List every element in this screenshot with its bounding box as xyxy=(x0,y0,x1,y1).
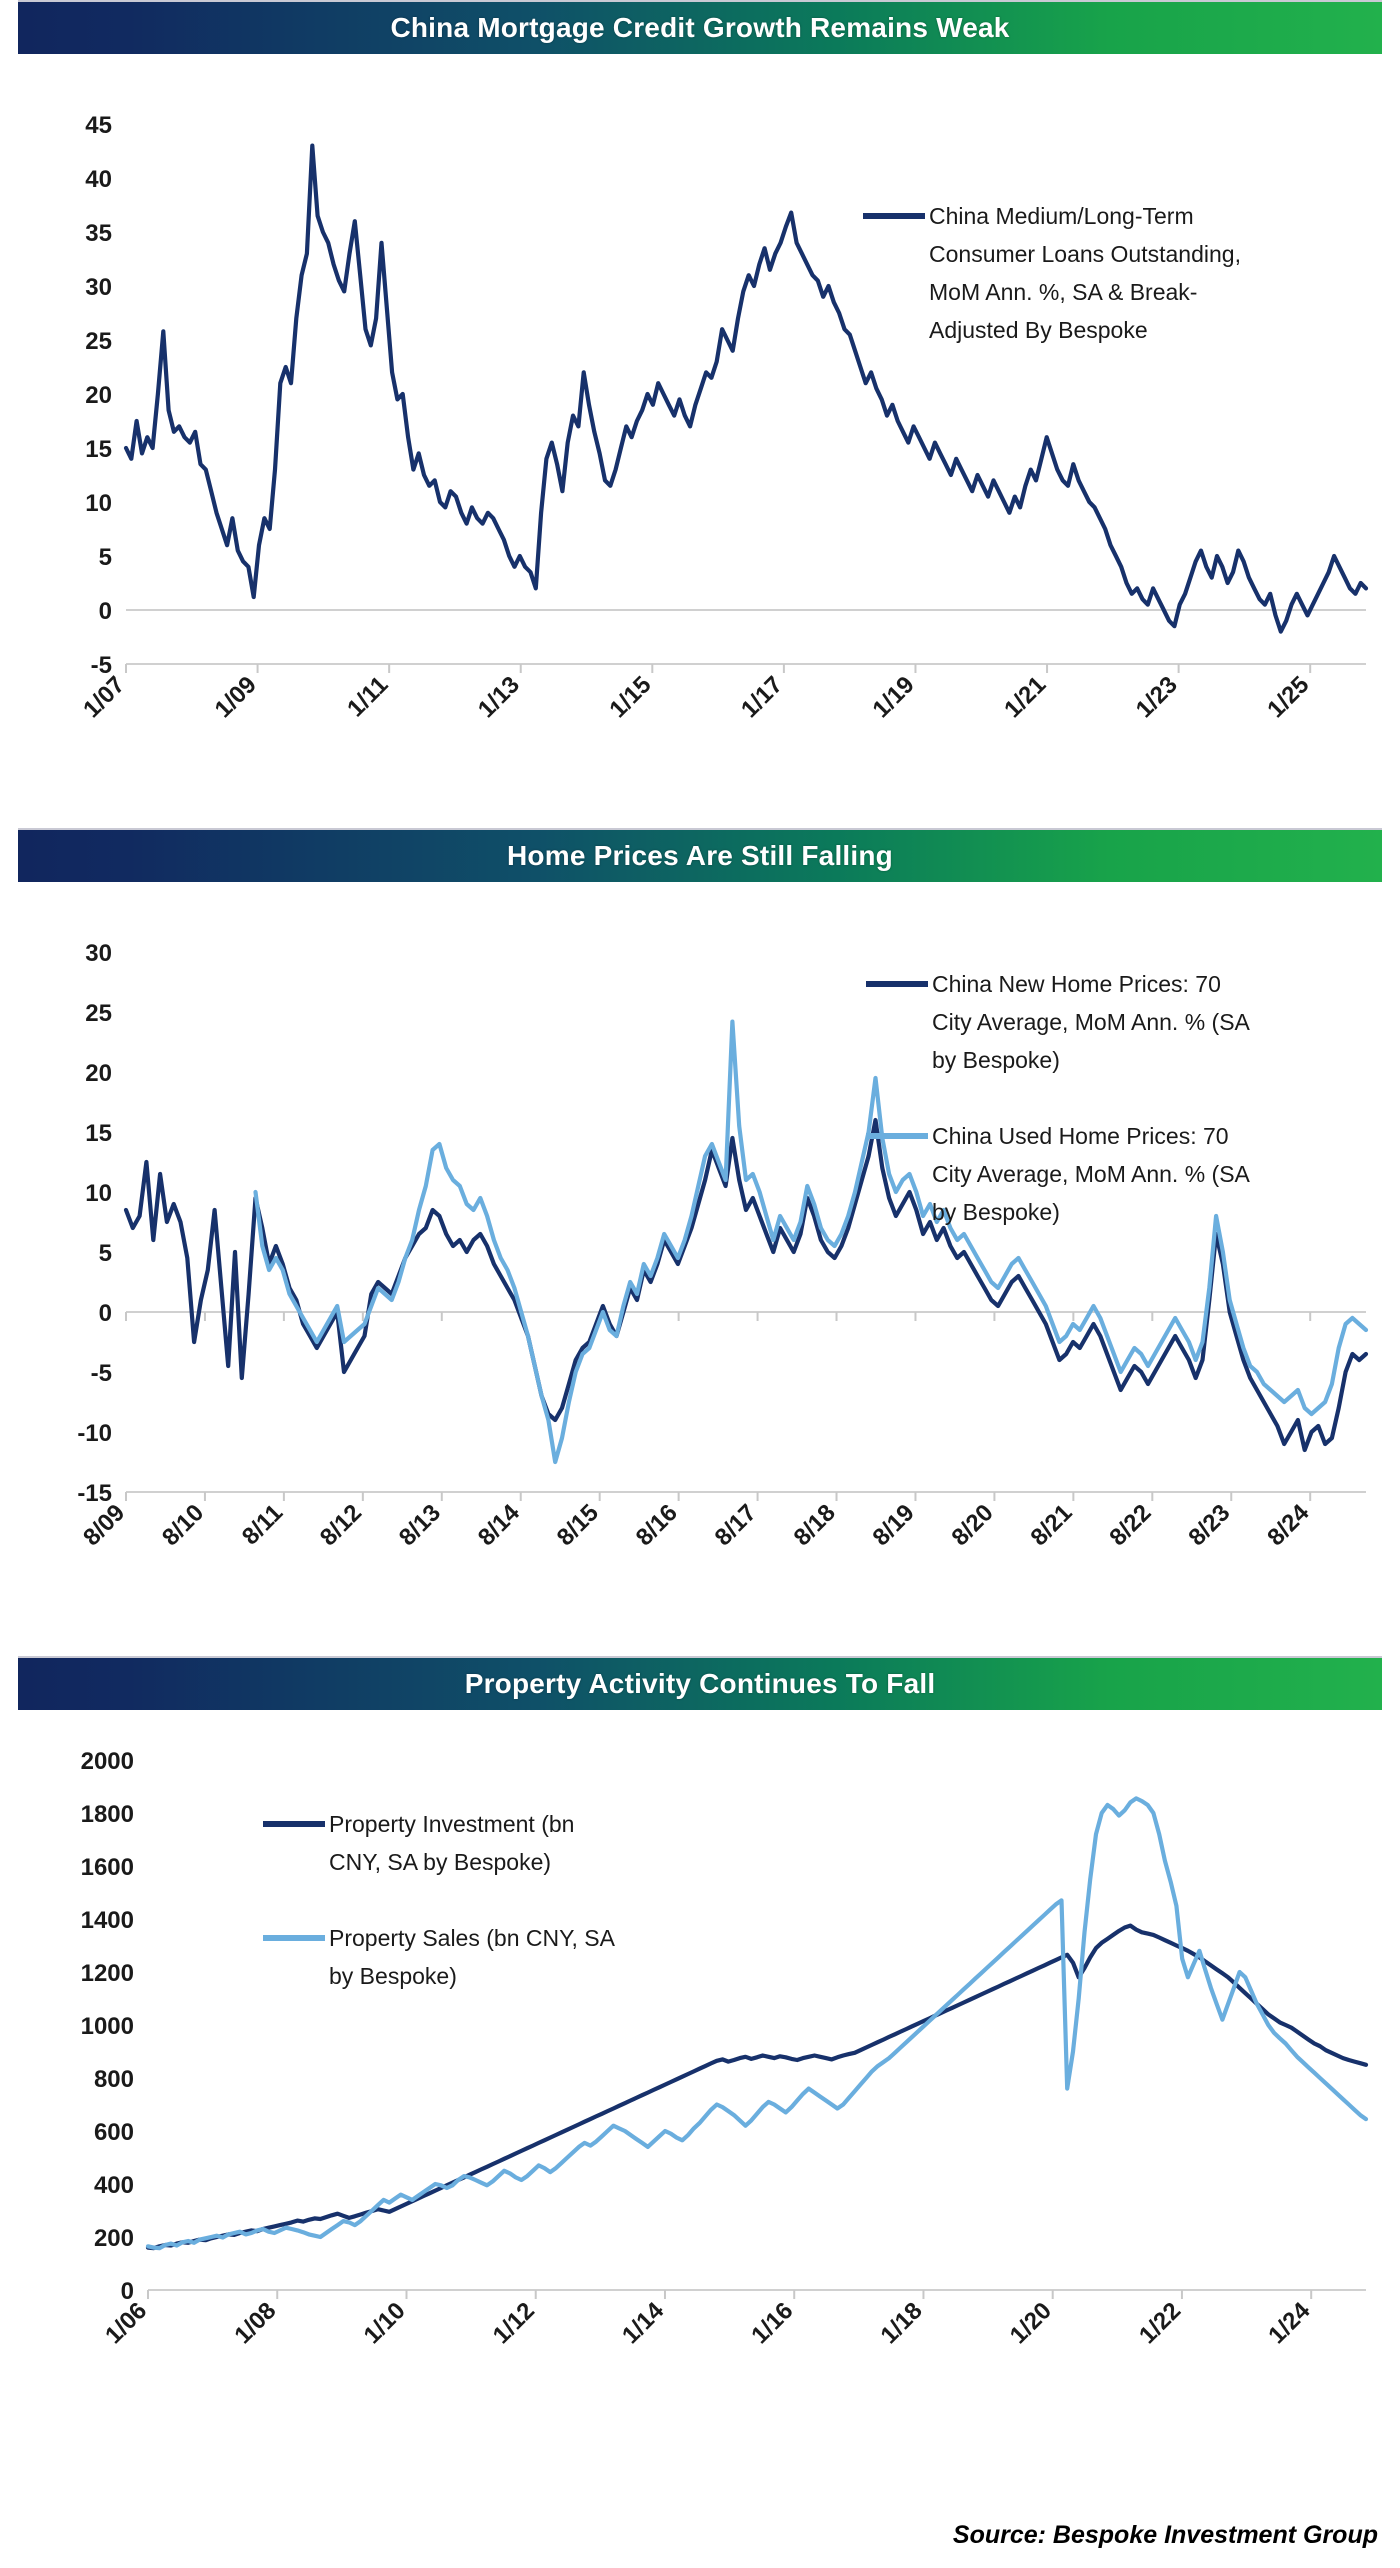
x-axis-tick-label: 1/15 xyxy=(604,671,656,723)
y-axis-tick-label: 2000 xyxy=(81,1748,134,1775)
x-axis-tick-label: 8/11 xyxy=(237,1499,288,1550)
x-axis-tick-label: 1/20 xyxy=(1005,2297,1057,2349)
y-axis-tick-label: 200 xyxy=(94,2225,134,2252)
legend-label: by Bespoke) xyxy=(932,1047,1060,1073)
legend-label: Property Sales (bn CNY, SA xyxy=(329,1925,616,1951)
y-axis-tick-label: 30 xyxy=(85,940,112,967)
chart-2-title: Home Prices Are Still Falling xyxy=(507,840,893,872)
legend-entry[interactable]: China Medium/Long-TermConsumer Loans Out… xyxy=(863,203,1241,343)
y-axis-tick-label: 10 xyxy=(85,1180,112,1207)
y-axis-tick-label: 5 xyxy=(99,1240,112,1267)
report-page: China Mortgage Credit Growth Remains Wea… xyxy=(0,0,1400,2568)
y-axis-tick-label: 20 xyxy=(85,1060,112,1087)
chart-3-title-banner: Property Activity Continues To Fall xyxy=(18,1656,1382,1710)
y-axis-tick-label: 20 xyxy=(85,382,112,409)
x-axis-tick-label: 1/19 xyxy=(868,671,920,723)
x-axis-tick-label: 8/23 xyxy=(1183,1499,1235,1551)
data-series-line xyxy=(256,1022,1367,1462)
y-axis-tick-label: 15 xyxy=(85,1120,112,1147)
x-axis-tick-label: 8/10 xyxy=(157,1499,209,1551)
legend-label: by Bespoke) xyxy=(329,1963,457,1989)
x-axis-tick-label: 1/07 xyxy=(78,671,130,723)
y-axis-tick-label: 35 xyxy=(85,220,112,247)
x-axis-tick-label: 8/16 xyxy=(631,1499,683,1551)
x-axis-tick-label: 8/12 xyxy=(315,1499,367,1551)
x-axis-tick-label: 1/09 xyxy=(210,671,262,723)
y-axis-tick-label: 25 xyxy=(85,1000,112,1027)
x-axis-tick-label: 8/17 xyxy=(710,1499,762,1551)
legend-label: China New Home Prices: 70 xyxy=(932,971,1221,997)
chart-3-plot: 20001800160014001200100080060040020001/0… xyxy=(18,1710,1382,2410)
chart-1-plot: 454035302520151050-51/071/091/111/131/15… xyxy=(18,54,1382,794)
chart-1-title-banner: China Mortgage Credit Growth Remains Wea… xyxy=(18,0,1382,54)
chart-1-title: China Mortgage Credit Growth Remains Wea… xyxy=(390,12,1009,44)
legend-label: City Average, MoM Ann. % (SA xyxy=(932,1009,1251,1035)
x-axis-tick-label: 1/22 xyxy=(1134,2297,1186,2349)
x-axis-tick-label: 1/14 xyxy=(617,2297,670,2350)
y-axis-tick-label: 10 xyxy=(85,490,112,517)
chart-2-title-banner: Home Prices Are Still Falling xyxy=(18,828,1382,882)
x-axis-tick-label: 1/25 xyxy=(1262,671,1314,723)
y-axis-tick-label: 0 xyxy=(99,598,112,625)
legend-label: China Medium/Long-Term xyxy=(929,203,1194,229)
x-axis-tick-label: 1/10 xyxy=(359,2297,411,2349)
x-axis-tick-label: 1/06 xyxy=(100,2297,152,2349)
source-note: Source: Bespoke Investment Group xyxy=(953,2521,1378,2550)
x-axis-tick-label: 1/11 xyxy=(342,671,393,722)
x-axis-tick-label: 1/17 xyxy=(736,671,788,723)
y-axis-tick-label: 1000 xyxy=(81,2013,134,2040)
x-axis-tick-label: 8/13 xyxy=(394,1499,446,1551)
y-axis-tick-label: 45 xyxy=(85,112,112,139)
x-axis-tick-label: 8/15 xyxy=(552,1499,604,1551)
y-axis-tick-label: 40 xyxy=(85,166,112,193)
legend-label: Adjusted By Bespoke xyxy=(929,317,1148,343)
legend-label: by Bespoke) xyxy=(932,1199,1060,1225)
legend-entry[interactable]: China Used Home Prices: 70City Average, … xyxy=(866,1123,1251,1225)
legend-label: Property Investment (bn xyxy=(329,1811,574,1837)
x-axis-tick-label: 1/08 xyxy=(229,2297,281,2349)
x-axis-tick-label: 8/18 xyxy=(789,1499,841,1551)
y-axis-tick-label: 1400 xyxy=(81,1907,134,1934)
x-axis-tick-label: 1/16 xyxy=(746,2297,798,2349)
chart-2-plot: 302520151050-5-10-158/098/108/118/128/13… xyxy=(18,882,1382,1622)
y-axis-tick-label: -5 xyxy=(91,1360,112,1387)
chart-panel-3: Property Activity Continues To Fall 2000… xyxy=(18,1656,1382,2410)
y-axis-tick-label: -10 xyxy=(77,1420,112,1447)
chart-3-svg: 20001800160014001200100080060040020001/0… xyxy=(18,1710,1382,2410)
x-axis-tick-label: 8/22 xyxy=(1104,1499,1156,1551)
legend-entry[interactable]: Property Sales (bn CNY, SAby Bespoke) xyxy=(263,1925,616,1989)
x-axis-tick-label: 8/24 xyxy=(1262,1499,1315,1552)
chart-panel-1: China Mortgage Credit Growth Remains Wea… xyxy=(18,0,1382,794)
legend-entry[interactable]: Property Investment (bnCNY, SA by Bespok… xyxy=(263,1811,574,1875)
y-axis-tick-label: 800 xyxy=(94,2066,134,2093)
legend-label: City Average, MoM Ann. % (SA xyxy=(932,1161,1251,1187)
y-axis-tick-label: 1600 xyxy=(81,1854,134,1881)
legend-label: China Used Home Prices: 70 xyxy=(932,1123,1229,1149)
y-axis-tick-label: 0 xyxy=(99,1300,112,1327)
chart-panel-2: Home Prices Are Still Falling 3025201510… xyxy=(18,828,1382,1622)
y-axis-tick-label: 30 xyxy=(85,274,112,301)
x-axis-tick-label: 1/12 xyxy=(488,2297,540,2349)
chart-1-svg: 454035302520151050-51/071/091/111/131/15… xyxy=(18,54,1382,794)
y-axis-tick-label: 25 xyxy=(85,328,112,355)
y-axis-tick-label: 1800 xyxy=(81,1801,134,1828)
x-axis-tick-label: 8/21 xyxy=(1025,1499,1077,1551)
legend-label: MoM Ann. %, SA & Break- xyxy=(929,279,1197,305)
y-axis-tick-label: 5 xyxy=(99,544,112,571)
x-axis-tick-label: 1/18 xyxy=(876,2297,928,2349)
legend-entry[interactable]: China New Home Prices: 70City Average, M… xyxy=(866,971,1251,1073)
y-axis-tick-label: 400 xyxy=(94,2172,134,2199)
x-axis-tick-label: 1/23 xyxy=(1131,671,1183,723)
x-axis-tick-label: 8/19 xyxy=(868,1499,920,1551)
x-axis-tick-label: 1/21 xyxy=(999,671,1051,723)
legend-label: CNY, SA by Bespoke) xyxy=(329,1849,551,1875)
y-axis-tick-label: 600 xyxy=(94,2119,134,2146)
y-axis-tick-label: 1200 xyxy=(81,1960,134,1987)
x-axis-tick-label: 1/24 xyxy=(1263,2297,1316,2350)
chart-2-svg: 302520151050-5-10-158/098/108/118/128/13… xyxy=(18,882,1382,1622)
y-axis-tick-label: 15 xyxy=(85,436,112,463)
x-axis-tick-label: 8/20 xyxy=(947,1499,999,1551)
chart-3-title: Property Activity Continues To Fall xyxy=(465,1668,936,1700)
legend-label: Consumer Loans Outstanding, xyxy=(929,241,1241,267)
x-axis-tick-label: 8/14 xyxy=(473,1499,526,1552)
x-axis-tick-label: 1/13 xyxy=(473,671,525,723)
